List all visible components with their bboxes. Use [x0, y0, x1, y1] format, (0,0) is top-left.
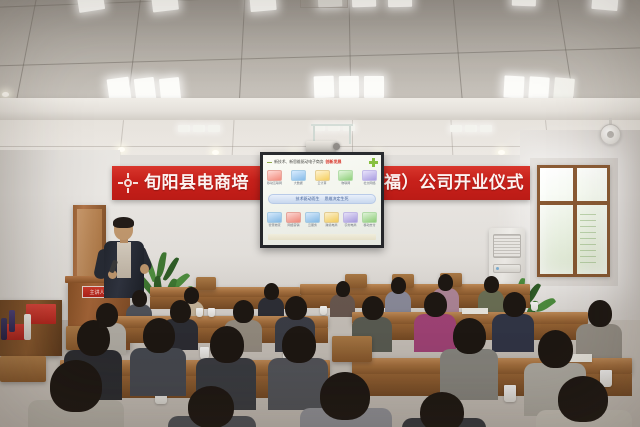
ceiling-light-panel [352, 0, 376, 7]
ceiling-light-panel [465, 125, 477, 132]
audience-head [285, 296, 307, 320]
air-conditioner-grille [493, 234, 521, 258]
ceiling-light-panel [364, 76, 384, 98]
ceiling-light-panel [512, 0, 536, 6]
projector-lens [333, 143, 340, 150]
slide-bar-right-text: 思维决定生死 [325, 196, 349, 202]
document-sheet[interactable] [462, 308, 488, 314]
audience-member [168, 386, 256, 427]
audience-head [210, 326, 244, 363]
audience-head [233, 300, 254, 323]
diamond-emblem-logo [118, 173, 138, 193]
conference-room-photo: 旬阳县电商培 佳福）公司开业仪式 新技术、新思维驱动电子商务 创新发展 移动互联… [0, 0, 640, 427]
audience-head [558, 376, 608, 422]
audience-head [50, 360, 102, 412]
air-conditioner-led [496, 267, 499, 270]
slide-banner-bar: 技术驱动而生 思维决定生死 [268, 194, 376, 204]
audience-member [300, 372, 392, 427]
ceiling-light-panel [339, 76, 359, 98]
audience-head [484, 276, 499, 293]
paper-cup[interactable] [504, 385, 516, 402]
ceiling-light-panel [178, 125, 190, 132]
paper-cup[interactable] [320, 306, 327, 315]
ceiling-light-panel [388, 0, 412, 7]
audience-head [391, 277, 406, 294]
slide-title: 新技术、新思维驱动电子商务 创新发展 [267, 158, 365, 166]
bottle [24, 314, 31, 340]
audience-head [336, 281, 350, 297]
side-table [0, 300, 62, 356]
projected-slide: 新技术、新思维驱动电子商务 创新发展 移动互联网 大数据 云计算 物联网 社交网… [263, 155, 381, 245]
audience-head [420, 392, 464, 427]
ceiling-light-panel [450, 125, 462, 132]
audience-head [588, 300, 612, 327]
slide-footer: 电子商务创新应用 [268, 234, 376, 240]
speaker-hair [113, 217, 134, 228]
slide-icon: 物联网 [337, 170, 354, 186]
audience-head [132, 290, 147, 307]
slide-bar-left-text: 技术驱动而生 [296, 196, 320, 202]
paper-cup[interactable] [208, 308, 215, 317]
slide-icon: 农村电商 [342, 212, 359, 228]
speaker-shirt [117, 242, 131, 278]
audience-head [503, 292, 526, 317]
slide-icon: 云服务 [304, 212, 321, 228]
audience-head [453, 318, 486, 354]
slide-icon: 网络营销 [285, 212, 302, 228]
ceiling-vent [300, 0, 348, 8]
audience-member [130, 318, 186, 396]
audience-member [536, 376, 632, 427]
audience-head [188, 386, 234, 427]
slide-icon-row-1: 移动互联网 大数据 云计算 物联网 社交网络 [266, 170, 378, 186]
audience-head [320, 372, 370, 420]
slide-icon: 移动支付 [361, 212, 378, 228]
slide-icon: 社交网络 [361, 170, 378, 186]
window-mullion [573, 168, 577, 274]
recessed-downlight [2, 92, 9, 97]
projector-mount-bracket [311, 124, 353, 126]
audience-head [362, 296, 384, 320]
speaker-presenter [96, 218, 152, 298]
audience-member [28, 360, 124, 427]
audience-head [282, 326, 316, 363]
slide-icon: 云计算 [314, 170, 331, 186]
ceiling-light-panel [528, 76, 549, 99]
slide-icon: 跨境电商 [323, 212, 340, 228]
window-glass [540, 168, 607, 274]
slide-icon: 大数据 [290, 170, 307, 186]
bottle [1, 318, 7, 340]
slide-icon-row-2: 智慧物流 网络营销 云服务 跨境电商 农村电商 移动支付 [266, 212, 378, 228]
ceiling-light-panel [314, 76, 335, 99]
banner-text-left: 旬阳县电商培 [144, 175, 249, 192]
ceiling-light-panel [208, 125, 220, 132]
ceiling-light-panel [193, 125, 205, 132]
audience-head [538, 330, 573, 368]
slide-title-text: 新技术、新思维驱动电子商务 [274, 159, 323, 165]
slide-icon: 移动互联网 [266, 170, 283, 186]
audience-head [438, 274, 453, 291]
bottle [9, 310, 15, 332]
wall-fan [598, 118, 624, 148]
slide-icon: 智慧物流 [266, 212, 283, 228]
ceiling-light-panel [503, 75, 524, 98]
chair[interactable] [332, 336, 372, 362]
audience-head [424, 292, 447, 317]
audience-member [402, 392, 486, 427]
slide-title-highlight: 创新发展 [325, 159, 341, 165]
speaker-hand [140, 264, 149, 274]
ceiling-soffit [0, 98, 640, 122]
projection-screen: 新技术、新思维驱动电子商务 创新发展 移动互联网 大数据 云计算 物联网 社交网… [260, 152, 384, 248]
window [537, 165, 610, 277]
ceiling-light-panel [480, 125, 492, 132]
audience-member [440, 318, 498, 400]
banner-text-right: 佳福）公司开业仪式 [367, 175, 525, 192]
audience-head [143, 318, 175, 353]
audience-head [77, 320, 110, 356]
projector-mount-arm [349, 126, 351, 144]
plus-icon [369, 158, 378, 167]
fan-hub [607, 131, 614, 138]
